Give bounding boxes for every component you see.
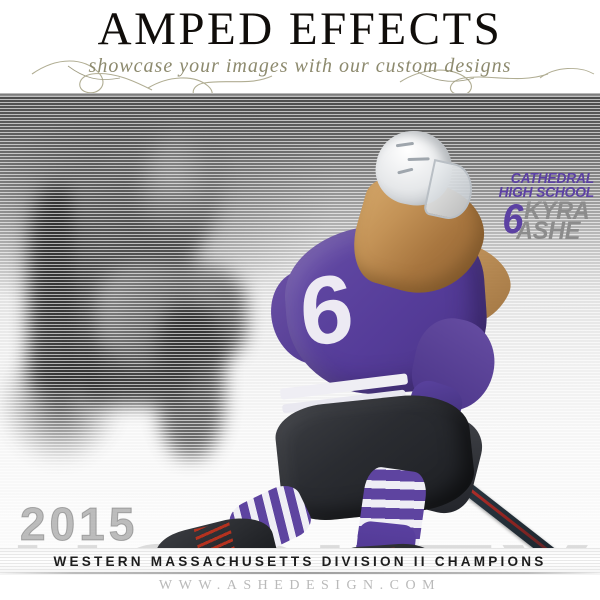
jersey-number: 6 [297,259,357,362]
player-last-name: ASHE [516,221,589,241]
website-url: WWW.ASHEDESIGN.COM [0,577,600,595]
header-banner: AMPED EFFECTS showcase your images with … [0,0,600,93]
photo-canvas: HOCKEY 6 [0,93,600,553]
page-tagline: showcase your images with our custom des… [0,55,600,77]
helmet-vent [408,157,430,161]
helmet-vent [396,142,414,147]
footer-divider [0,572,600,574]
helmet-vent [397,168,413,175]
player-identity-row: 6 KYRA ASHE [444,201,594,241]
athlete-figure: 6 [0,93,600,553]
template-poster: AMPED EFFECTS showcase your images with … [0,0,600,600]
championship-title: WESTERN MASSACHUSETTS DIVISION II CHAMPI… [9,552,591,570]
player-name-badge: CATHEDRAL HIGH SCHOOL 6 KYRA ASHE [444,172,594,241]
page-title: AMPED EFFECTS [0,4,600,54]
player-name-block: KYRA ASHE [524,201,594,241]
